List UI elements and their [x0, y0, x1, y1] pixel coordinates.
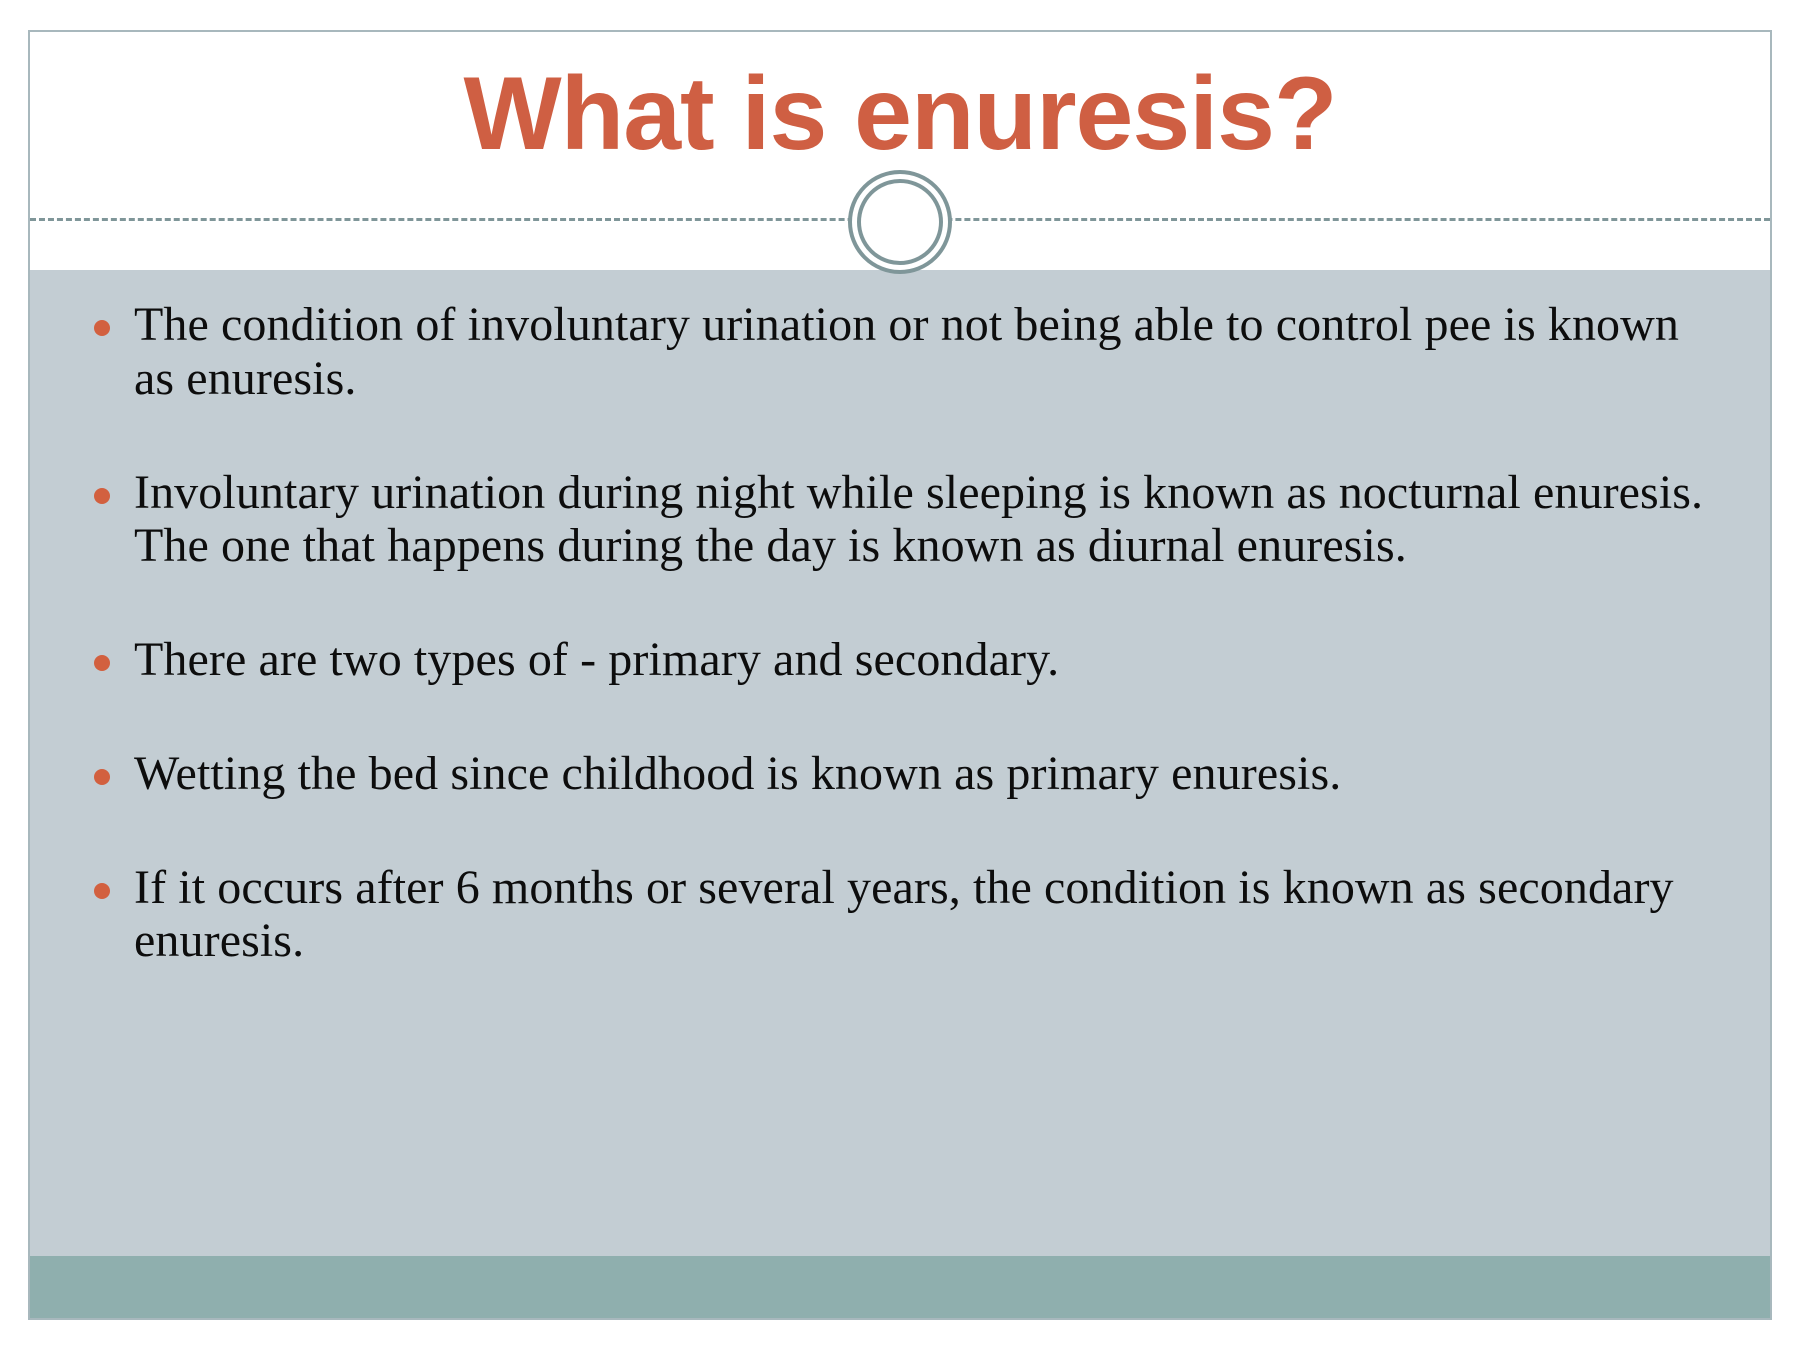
- bullet-dot-icon: [94, 320, 110, 336]
- list-item: There are two types of - primary and sec…: [58, 633, 1710, 687]
- slide: What is enuresis? The condition of invol…: [28, 30, 1772, 1320]
- page-title: What is enuresis?: [30, 62, 1770, 166]
- list-item-text: There are two types of - primary and sec…: [134, 633, 1710, 687]
- list-item: Involuntary urination during night while…: [58, 466, 1710, 574]
- list-item: The condition of involuntary urination o…: [58, 298, 1710, 406]
- list-item-text: Involuntary urination during night while…: [134, 466, 1710, 574]
- bullet-list: The condition of involuntary urination o…: [58, 298, 1710, 968]
- content-panel: The condition of involuntary urination o…: [30, 270, 1770, 1260]
- ornament-inner-ring: [857, 179, 943, 265]
- bullet-dot-icon: [94, 655, 110, 671]
- list-item-text: If it occurs after 6 months or several y…: [134, 861, 1710, 969]
- list-item: Wetting the bed since childhood is known…: [58, 747, 1710, 801]
- bullet-dot-icon: [94, 883, 110, 899]
- list-item-text: Wetting the bed since childhood is known…: [134, 747, 1710, 801]
- list-item-text: The condition of involuntary urination o…: [134, 298, 1710, 406]
- double-circle-ornament-icon: [848, 170, 952, 274]
- bullet-dot-icon: [94, 769, 110, 785]
- list-item: If it occurs after 6 months or several y…: [58, 861, 1710, 969]
- bullet-dot-icon: [94, 488, 110, 504]
- footer-bar: [30, 1256, 1770, 1318]
